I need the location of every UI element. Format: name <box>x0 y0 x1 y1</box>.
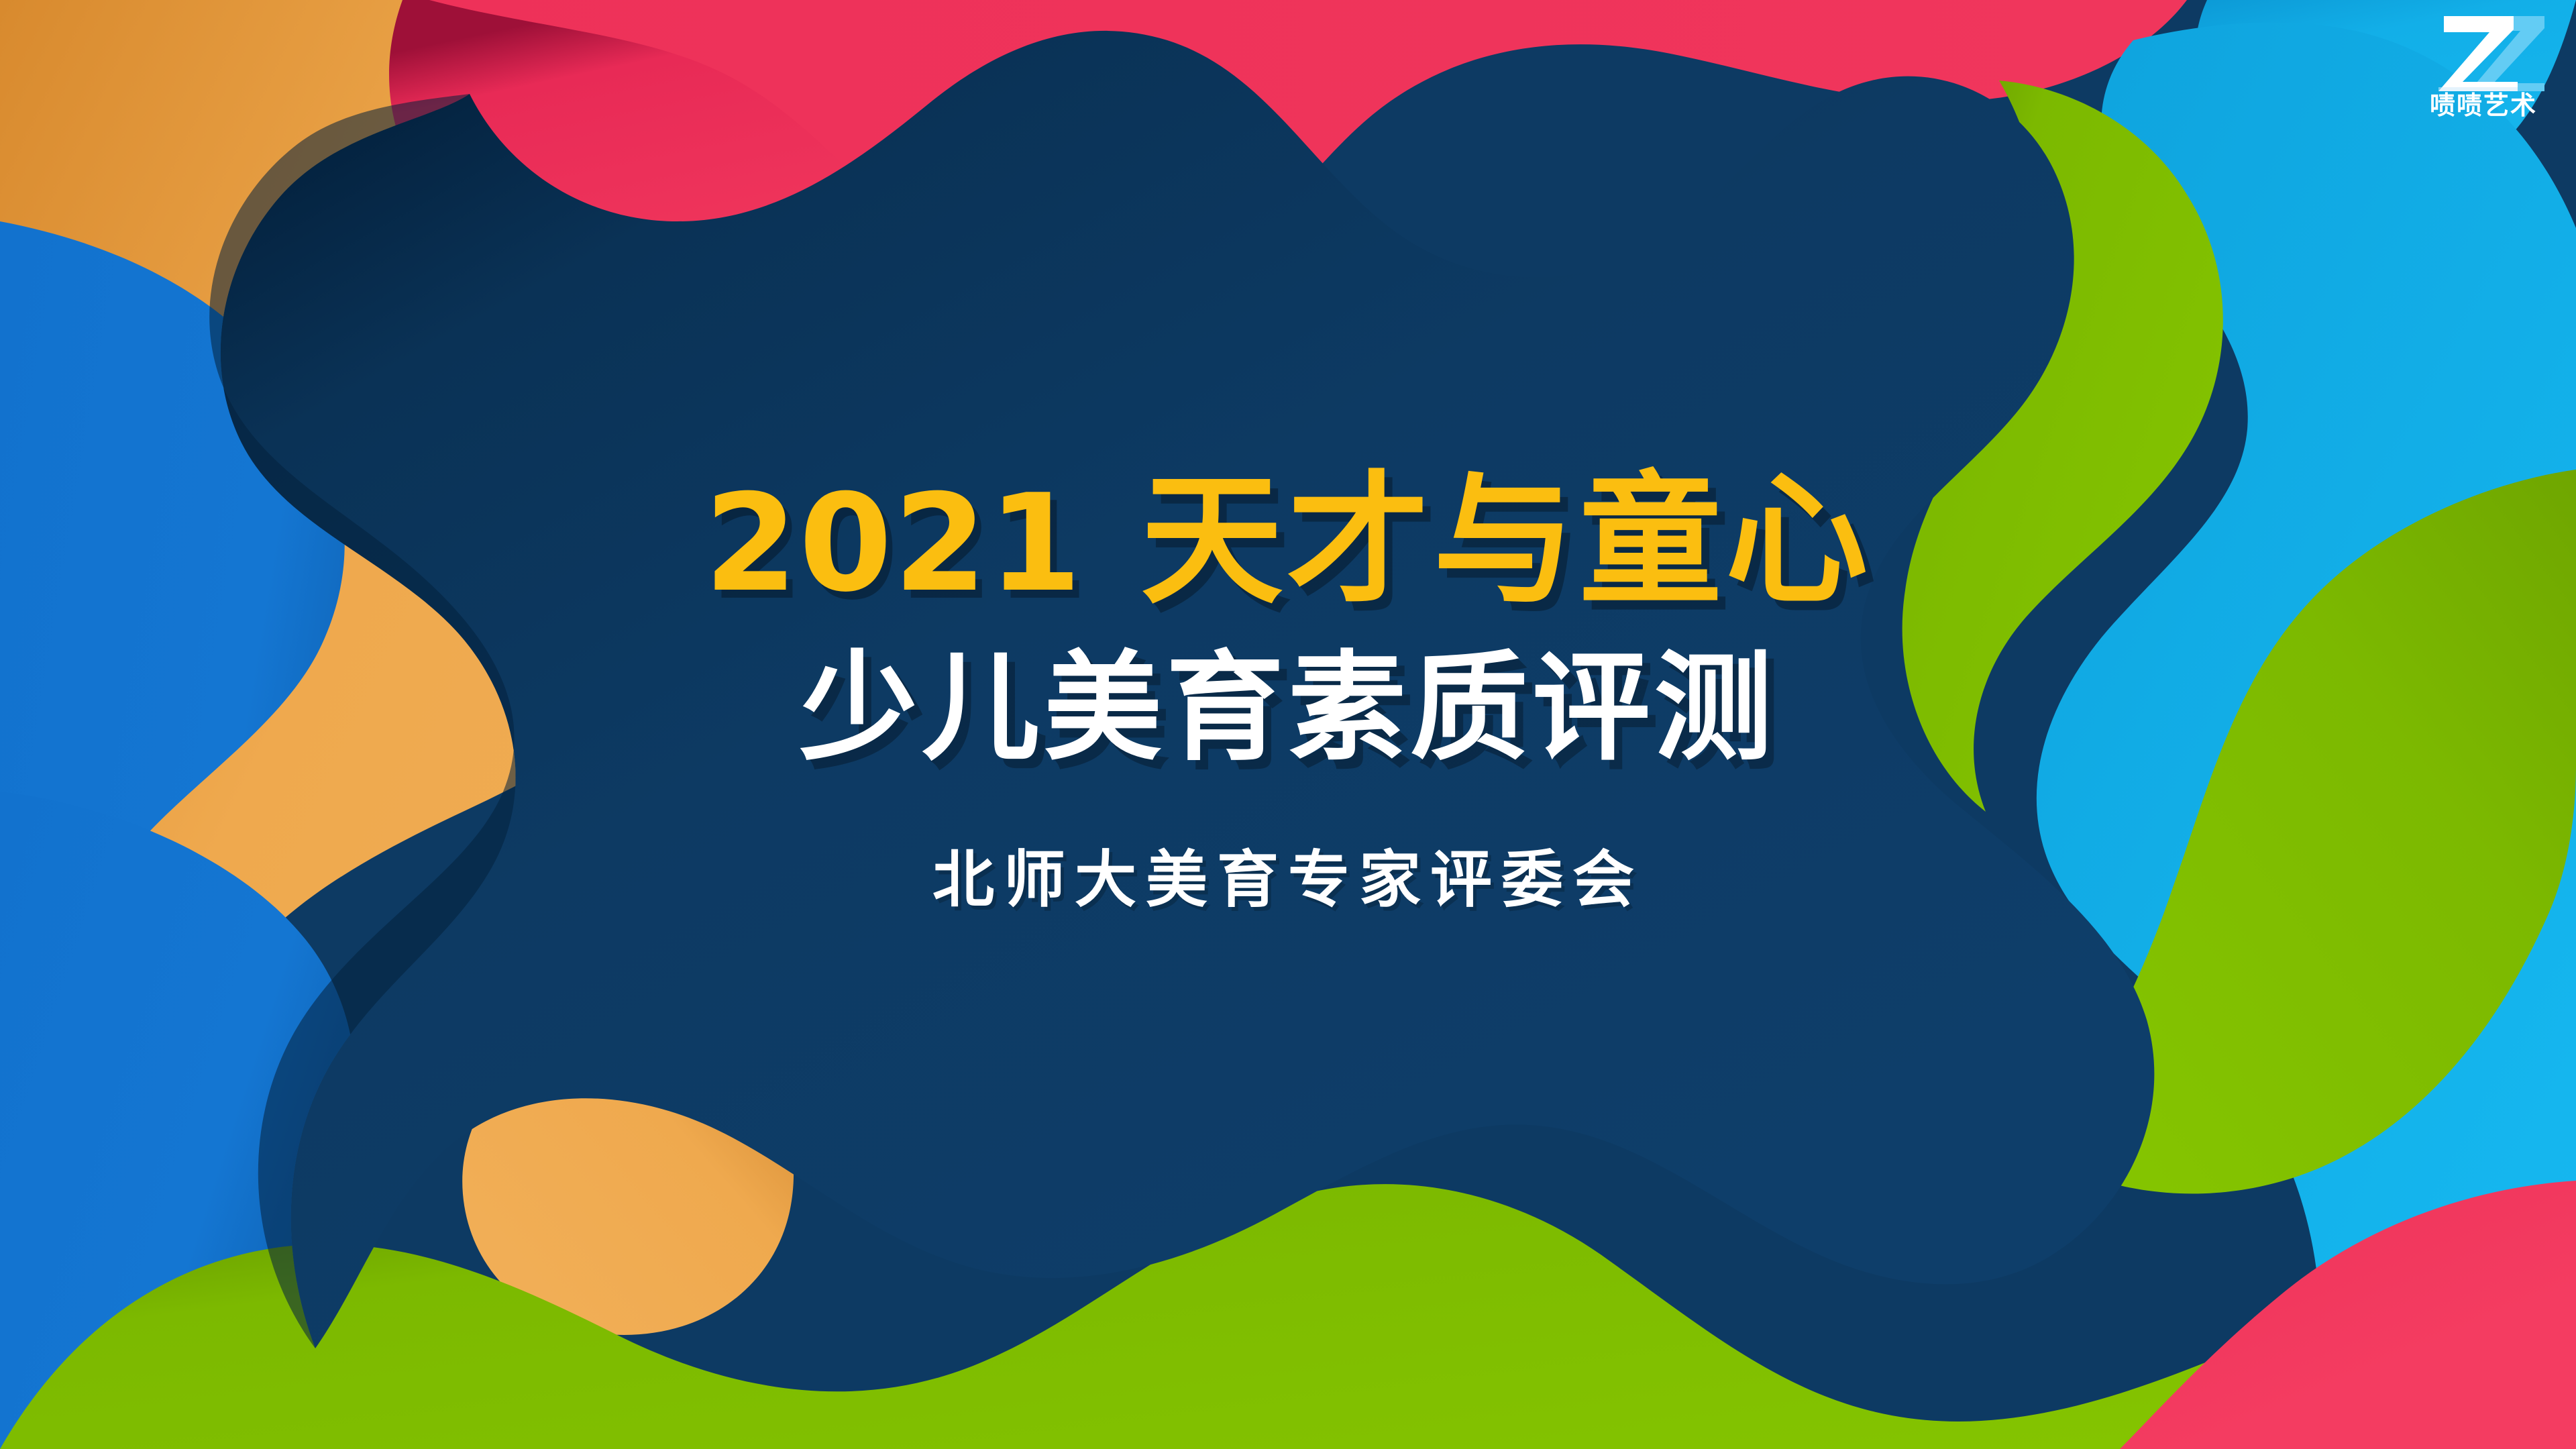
brand-logo[interactable]: 啧啧艺术 <box>2410 12 2557 133</box>
double-z-icon <box>2420 12 2547 91</box>
background-artwork <box>0 0 2576 1449</box>
poster-canvas: 2021 天才与童心 少儿美育素质评测 北师大美育专家评委会 啧啧艺术 <box>0 0 2576 1449</box>
brand-name: 啧啧艺术 <box>2430 93 2537 118</box>
